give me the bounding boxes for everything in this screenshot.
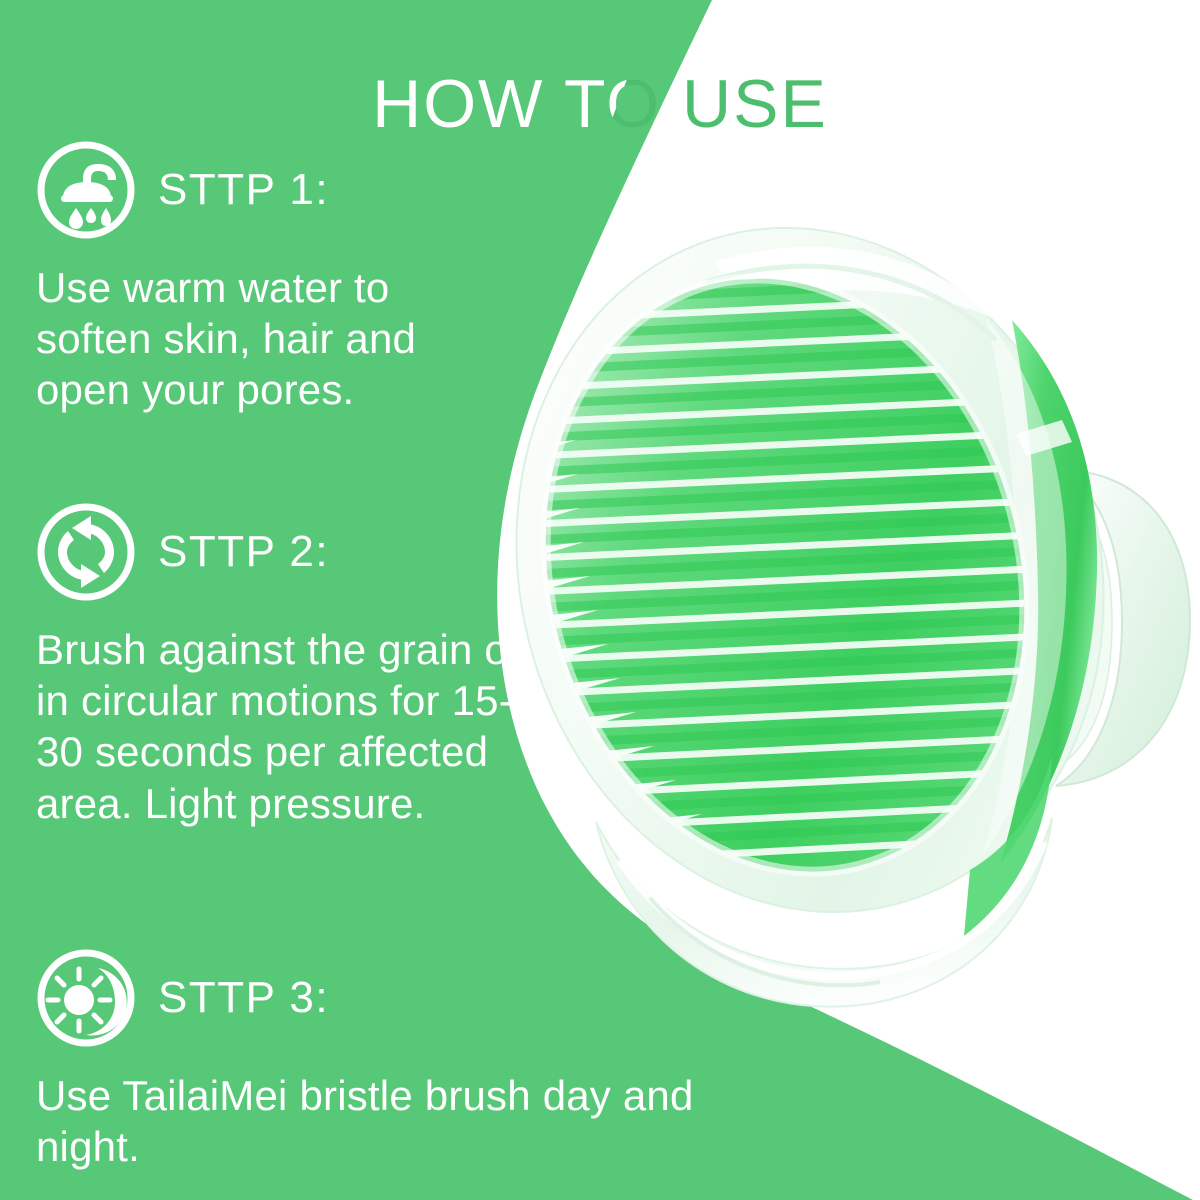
step-3-label: STTP 3:	[158, 976, 329, 1020]
step-2-label: STTP 2:	[158, 530, 329, 574]
page-title: HOW TO USE HOW TO USE	[0, 68, 1200, 140]
step-1-label: STTP 1:	[158, 168, 329, 212]
product-body	[500, 170, 1175, 975]
step-2-header: STTP 2:	[36, 502, 546, 602]
product-handle	[1012, 470, 1190, 786]
circular-arrows-icon	[36, 502, 136, 602]
product-image	[500, 170, 1200, 1030]
step-1: STTP 1: Use warm water to soften skin, h…	[36, 140, 536, 416]
step-2: STTP 2: Brush against the grain or in ci…	[36, 502, 546, 829]
step-3-header: STTP 3:	[36, 948, 716, 1048]
step-2-body: Brush against the grain or in circular m…	[36, 624, 536, 829]
sun-moon-icon	[36, 948, 136, 1048]
step-1-header: STTP 1:	[36, 140, 536, 240]
step-3-body: Use TailaiMei bristle brush day and nigh…	[36, 1070, 696, 1172]
step-1-body: Use warm water to soften skin, hair and …	[36, 262, 506, 416]
how-to-use-poster: HOW TO USE HOW TO USE	[0, 0, 1200, 1200]
shower-head-icon	[36, 140, 136, 240]
step-3: STTP 3: Use TailaiMei bristle brush day …	[36, 948, 716, 1172]
product-bristle-pad	[500, 227, 1086, 923]
